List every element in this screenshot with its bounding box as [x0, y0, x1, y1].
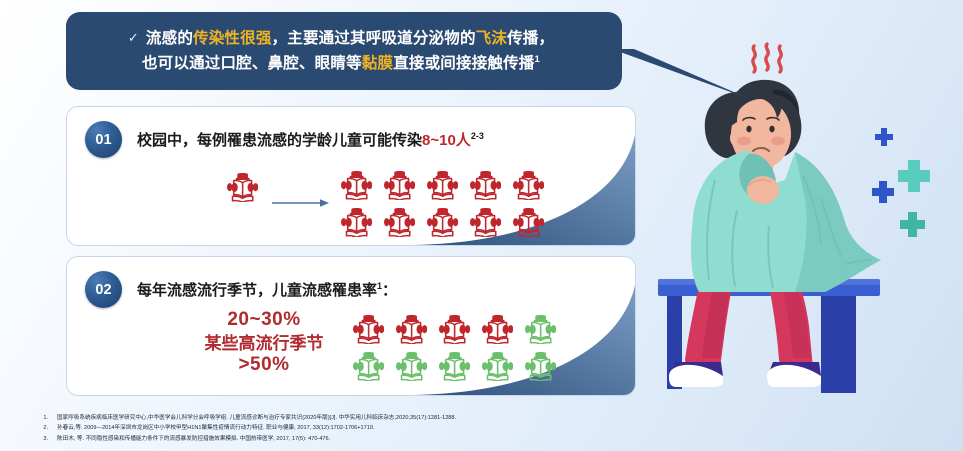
card-01-title: 校园中，每例罹患流感的学龄儿童可能传染8~10人2-3 [137, 129, 484, 150]
footnote-item: 1. 国家呼吸系统疾病临床医学研究中心,中华医学会儿科学分会呼吸学组. 儿童流感… [40, 413, 680, 423]
slide-root: ✓流感的传染性很强，主要通过其呼吸道分泌物的飞沫传播， 也可以通过口腔、鼻腔、眼… [0, 0, 963, 451]
callout-line1-part-b: ，主要通过其呼吸道分泌物的 [272, 30, 476, 47]
child-reading-icon [427, 171, 458, 200]
callout-line2-part-a: 也可以通过口腔、鼻腔、眼睛等 [142, 55, 362, 72]
card-01-title-highlight: 8~10人 [422, 132, 471, 149]
card-01-body [67, 165, 635, 246]
card-02-stats: 20~30% 某些高流行季节 >50% [189, 309, 339, 377]
card-02-title: 每年流感流行季节，儿童流感罹患率1： [137, 279, 397, 300]
child-icon-cell [470, 171, 501, 200]
child-reading-icon [482, 352, 513, 381]
child-reading-icon [396, 352, 427, 381]
child-icon-cell [427, 208, 458, 237]
footnote-number: 3. [40, 434, 57, 444]
card-02-badge: 02 [85, 271, 122, 308]
stat-high-season-label: 某些高流行季节 [189, 334, 339, 354]
callout-line2-highlight: 黏膜 [362, 55, 393, 72]
child-icon-cell [513, 171, 544, 200]
child-reading-icon [396, 315, 427, 344]
child-icon-cell [470, 208, 501, 237]
callout-bubble: ✓流感的传染性很强，主要通过其呼吸道分泌物的飞沫传播， 也可以通过口腔、鼻腔、眼… [66, 12, 622, 90]
child-icon-cell [427, 171, 458, 200]
child-icon-cell [525, 315, 556, 344]
callout-line-1: ✓流感的传染性很强，主要通过其呼吸道分泌物的飞沫传播， [128, 26, 554, 51]
child-reading-icon [353, 352, 384, 381]
child-icon-cell [353, 352, 384, 381]
child-reading-icon [341, 208, 372, 237]
card-01-badge: 01 [85, 121, 122, 158]
callout-line1-part-a: 流感的 [146, 30, 193, 47]
child-reading-icon [427, 208, 458, 237]
footnote-item: 2. 孙春云,等. 2009—2014年深圳市龙岗区中小学校甲型H1N1聚集性疫… [40, 423, 680, 433]
info-card-02: 02 每年流感流行季节，儿童流感罹患率1： 20~30% 某些高流行季节 >50… [66, 256, 636, 396]
callout-line2-part-b: 直接或间接接触传播 [393, 55, 534, 72]
child-reading-icon [525, 352, 556, 381]
card-02-body: 20~30% 某些高流行季节 >50% [67, 309, 635, 396]
arrow-right-icon [272, 198, 330, 208]
card-02-header: 02 每年流感流行季节，儿童流感罹患率1： [85, 271, 397, 308]
info-card-01: 01 校园中，每例罹患流感的学龄儿童可能传染8~10人2-3 [66, 106, 636, 246]
plus-icon [900, 212, 925, 237]
child-reading-icon [513, 208, 544, 237]
card-01-title-superscript: 2-3 [471, 131, 484, 141]
child-reading-icon [341, 171, 372, 200]
card-01-header: 01 校园中，每例罹患流感的学龄儿童可能传染8~10人2-3 [85, 121, 484, 158]
child-icon-cell [341, 171, 372, 200]
child-icon-cell [384, 171, 415, 200]
card-02-icon-grid [347, 311, 562, 385]
callout-line1-highlight-2: 飞沫 [476, 30, 507, 47]
child-icon-cell [439, 352, 470, 381]
stat-prevalence-range: 20~30% [189, 309, 339, 331]
source-child-icon [227, 173, 258, 207]
callout-line-2: 也可以通过口腔、鼻腔、眼睛等黏膜直接或间接接触传播1 [128, 51, 554, 76]
callout-line1-highlight-1: 传染性很强 [193, 30, 272, 47]
shoes [669, 362, 821, 387]
heat-waves-icon [753, 44, 781, 72]
callout-tail [612, 49, 752, 101]
footnote-text: 陈田木, 等. 不同隐性感染和传播能力条件下的流感暴发防控措施效果模拟. 中国热… [57, 434, 680, 444]
footnote-number: 1. [40, 413, 57, 423]
plus-icon [898, 160, 930, 192]
child-reading-icon [227, 173, 258, 202]
child-icon-cell [384, 208, 415, 237]
child-reading-icon [353, 315, 384, 344]
child-icon-cell [482, 315, 513, 344]
child-icon-cell [396, 352, 427, 381]
callout-line1-part-c: 传播， [507, 30, 554, 47]
footnotes-list: 1. 国家呼吸系统疾病临床医学研究中心,中华医学会儿科学分会呼吸学组. 儿童流感… [40, 413, 680, 444]
child-icon-cell [482, 352, 513, 381]
card-01-title-text: 校园中，每例罹患流感的学龄儿童可能传染 [137, 132, 422, 149]
card-01-icon-grid [335, 167, 550, 241]
child-reading-icon [439, 352, 470, 381]
child-icon-cell [513, 208, 544, 237]
child-reading-icon [384, 208, 415, 237]
callout-line2-superscript: 1 [535, 54, 540, 65]
stat-high-season-value: >50% [189, 354, 339, 376]
child-reading-icon [482, 315, 513, 344]
plus-icon [875, 128, 893, 146]
footnote-item: 3. 陈田木, 等. 不同隐性感染和传播能力条件下的流感暴发防控措施效果模拟. … [40, 434, 680, 444]
child-reading-icon [470, 208, 501, 237]
child-icon-cell [396, 315, 427, 344]
footnote-number: 2. [40, 423, 57, 433]
child-icon-cell [525, 352, 556, 381]
card-02-title-colon: ： [382, 282, 397, 299]
child-reading-icon [439, 315, 470, 344]
child-reading-icon [470, 171, 501, 200]
plus-icon-group [872, 128, 930, 237]
child-reading-icon [384, 171, 415, 200]
footnote-text: 国家呼吸系统疾病临床医学研究中心,中华医学会儿科学分会呼吸学组. 儿童流感诊断与… [57, 413, 680, 423]
child-icon-cell [353, 315, 384, 344]
plus-icon [872, 181, 894, 203]
blanket [691, 150, 881, 292]
child-reading-icon [525, 315, 556, 344]
child-icon-cell [341, 208, 372, 237]
callout-text-block: ✓流感的传染性很强，主要通过其呼吸道分泌物的飞沫传播， 也可以通过口腔、鼻腔、眼… [118, 26, 570, 76]
card-02-title-text: 每年流感流行季节，儿童流感罹患率 [137, 282, 377, 299]
child-icon-cell [439, 315, 470, 344]
child-reading-icon [513, 171, 544, 200]
check-icon: ✓ [128, 30, 139, 45]
footnote-text: 孙春云,等. 2009—2014年深圳市龙岗区中小学校甲型H1N1聚集性疫情流行… [57, 423, 680, 433]
